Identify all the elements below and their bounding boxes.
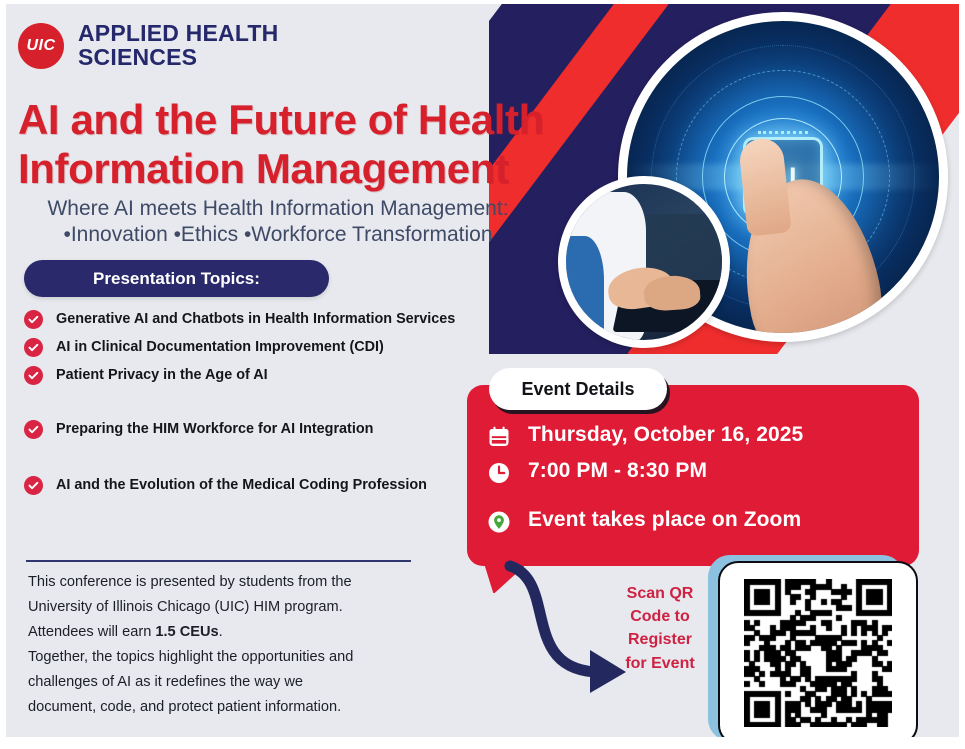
event-location-row: Event takes place on Zoom	[486, 507, 906, 535]
event-time: 7:00 PM - 8:30 PM	[528, 458, 707, 484]
footer-line-5: challenges of AI as it redefines the way…	[28, 670, 428, 695]
ceu-value: 1.5 CEUs	[155, 624, 218, 640]
check-circle-icon	[24, 366, 43, 385]
check-circle-icon	[24, 420, 43, 439]
list-item: AI and the Evolution of the Medical Codi…	[24, 475, 476, 497]
event-info-rows: Thursday, October 16, 2025 7:00 PM - 8:3…	[486, 422, 906, 535]
poster-canvas: AI UIC APPLIED HEALTH SCIENCES AI and th…	[6, 4, 959, 737]
event-details-label: Event Details	[521, 379, 634, 400]
footer-line-1: This conference is presented by students…	[28, 570, 428, 595]
uic-logo-text: UIC	[26, 37, 55, 55]
qr-caption-line3: Register	[610, 628, 710, 651]
page-title: AI and the Future of Health Information …	[18, 96, 608, 193]
clinician-laptop-image	[558, 176, 730, 348]
topic-label: Patient Privacy in the Age of AI	[56, 365, 268, 387]
qr-code-image[interactable]	[744, 579, 892, 727]
list-item: Generative AI and Chatbots in Health Inf…	[24, 309, 476, 331]
event-time-row: 7:00 PM - 8:30 PM	[486, 458, 906, 486]
calendar-icon	[486, 424, 512, 450]
topic-label: AI in Clinical Documentation Improvement…	[56, 337, 384, 359]
topic-label: Generative AI and Chatbots in Health Inf…	[56, 309, 455, 331]
clock-icon	[486, 460, 512, 486]
unit-name-line2: SCIENCES	[78, 46, 278, 70]
footer-line-3-pre: Attendees will earn	[28, 624, 155, 640]
subtitle-line1: Where AI meets Health Information Manage…	[18, 196, 538, 222]
qr-caption-line4: for Event	[610, 652, 710, 675]
presentation-topics-label: Presentation Topics:	[93, 269, 260, 289]
uic-logo: UIC APPLIED HEALTH SCIENCES	[18, 22, 278, 70]
list-item: Patient Privacy in the Age of AI	[24, 365, 476, 387]
map-pin-icon	[486, 509, 512, 535]
footer-divider	[26, 560, 411, 562]
qr-caption: Scan QR Code to Register for Event	[610, 582, 710, 675]
unit-name: APPLIED HEALTH SCIENCES	[78, 22, 278, 70]
qr-caption-line2: Code to	[610, 605, 710, 628]
uic-badge-icon: UIC	[18, 23, 64, 69]
unit-name-line1: APPLIED HEALTH	[78, 22, 278, 46]
check-circle-icon	[24, 338, 43, 357]
footer-line-2: University of Illinois Chicago (UIC) HIM…	[28, 595, 428, 620]
presentation-topics-heading: Presentation Topics:	[24, 260, 329, 297]
footer-line-3-post: .	[219, 624, 223, 640]
footer-description: This conference is presented by students…	[28, 570, 428, 721]
poster-screenshot: AI UIC APPLIED HEALTH SCIENCES AI and th…	[0, 0, 965, 749]
event-location: Event takes place on Zoom	[528, 507, 801, 533]
list-item: Preparing the HIM Workforce for AI Integ…	[24, 419, 476, 441]
check-circle-icon	[24, 476, 43, 495]
footer-line-6: document, code, and protect patient info…	[28, 695, 428, 720]
list-item: AI in Clinical Documentation Improvement…	[24, 337, 476, 359]
event-date-row: Thursday, October 16, 2025	[486, 422, 906, 450]
subtitle-line2: •Innovation •Ethics •Workforce Transform…	[18, 222, 538, 248]
qr-code-card[interactable]	[718, 561, 918, 737]
topic-label: Preparing the HIM Workforce for AI Integ…	[56, 419, 373, 441]
event-details-badge: Event Details	[489, 368, 667, 410]
check-circle-icon	[24, 310, 43, 329]
topics-list: Generative AI and Chatbots in Health Inf…	[24, 309, 476, 496]
footer-line-4: Together, the topics highlight the oppor…	[28, 645, 428, 670]
page-subtitle: Where AI meets Health Information Manage…	[18, 196, 538, 249]
topic-label: AI and the Evolution of the Medical Codi…	[56, 475, 427, 497]
qr-caption-line1: Scan QR	[610, 582, 710, 605]
event-date: Thursday, October 16, 2025	[528, 422, 803, 448]
footer-line-3: Attendees will earn 1.5 CEUs.	[28, 620, 428, 645]
